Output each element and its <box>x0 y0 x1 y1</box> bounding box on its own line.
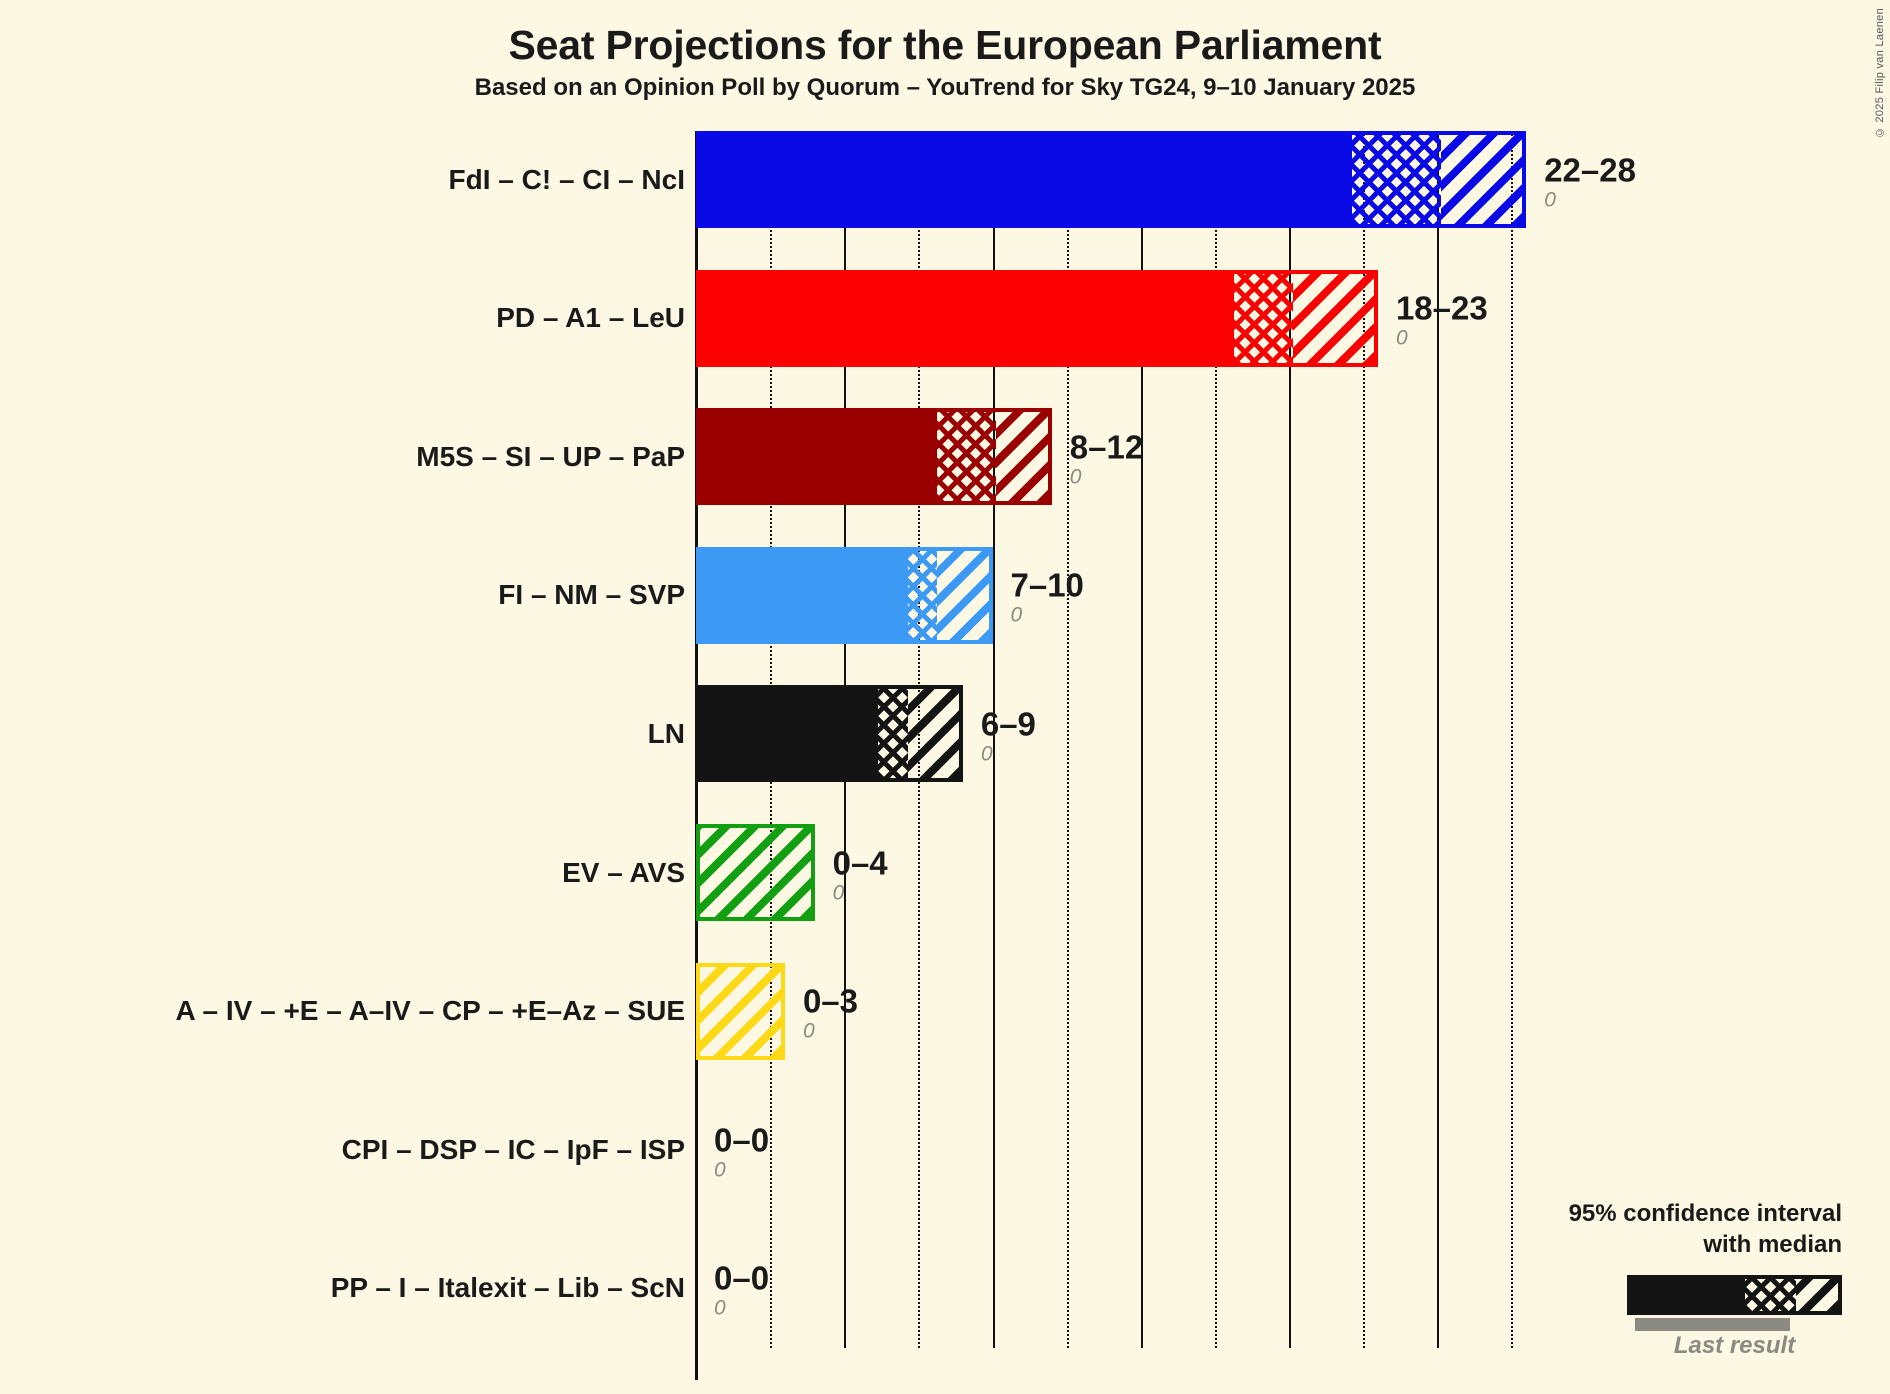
legend-sample-bar <box>1627 1275 1842 1315</box>
bar[interactable] <box>696 131 1526 228</box>
bar-last-result: 0 <box>1070 463 1143 491</box>
bar-segment-upper-bound <box>1293 274 1374 363</box>
bar-segment-median <box>1234 274 1293 363</box>
bar-value-group: 0–00 <box>714 1262 769 1323</box>
legend-caption: 95% confidence interval with median <box>1422 1199 1842 1260</box>
bar-last-result: 0 <box>1011 602 1084 630</box>
legend-segment-solid <box>1631 1279 1745 1311</box>
legend-last-result-label: Last result <box>1627 1332 1842 1360</box>
bar-label: CPI – DSP – IC – IpF – ISP <box>342 1134 685 1166</box>
bar-segment-median <box>878 689 908 778</box>
bar-label: FI – NM – SVP <box>498 579 685 611</box>
bar[interactable] <box>696 408 1052 505</box>
bar-label: PD – A1 – LeU <box>496 302 685 334</box>
legend-segment-diagonal <box>1796 1279 1838 1311</box>
bar-segment-upper-bound <box>908 689 959 778</box>
bar-last-result: 0 <box>1544 186 1636 214</box>
bar-value-range: 22–28 <box>1544 153 1636 186</box>
bar-last-result: 0 <box>714 1295 769 1323</box>
bar-value-group: 0–40 <box>833 846 888 907</box>
bar-segment-upper-bound <box>700 967 781 1056</box>
bar[interactable] <box>696 270 1378 367</box>
bar[interactable] <box>696 547 993 644</box>
legend-line-2: with median <box>1422 1230 1842 1261</box>
bar-value-group: 8–120 <box>1070 430 1143 491</box>
bar-label: EV – AVS <box>562 857 685 889</box>
bar-value-range: 0–3 <box>803 984 858 1017</box>
bar-segment-median <box>908 551 938 640</box>
bar-value-range: 0–0 <box>714 1123 769 1156</box>
bar-segment-upper-bound <box>700 828 811 917</box>
bar-segment-lower-bound <box>700 689 878 778</box>
bar-value-group: 22–280 <box>1544 153 1636 214</box>
bar-value-group: 6–90 <box>981 707 1036 768</box>
bar-segment-upper-bound <box>937 551 988 640</box>
bar[interactable] <box>696 824 815 921</box>
bar-label: M5S – SI – UP – PaP <box>416 441 685 473</box>
bar-segment-median <box>937 412 996 501</box>
legend-line-1: 95% confidence interval <box>1422 1199 1842 1230</box>
bar-label: LN <box>648 718 685 750</box>
bar-value-range: 0–0 <box>714 1262 769 1295</box>
gridline-minor <box>1511 131 1513 1348</box>
bar-last-result: 0 <box>1396 324 1488 352</box>
bar-last-result: 0 <box>714 1156 769 1184</box>
bar-segment-lower-bound <box>700 135 1352 224</box>
bar-value-range: 8–12 <box>1070 430 1143 463</box>
bar-segment-upper-bound <box>996 412 1047 501</box>
bar-value-group: 7–100 <box>1011 569 1084 630</box>
bar-value-range: 7–10 <box>1011 569 1084 602</box>
bar-segment-lower-bound <box>700 274 1234 363</box>
legend-segment-crosshatch <box>1745 1279 1796 1311</box>
bar-value-group: 0–00 <box>714 1123 769 1184</box>
bar-segment-median <box>1352 135 1441 224</box>
bar-value-group: 18–230 <box>1396 291 1488 352</box>
plot-area: FdI – C! – CI – NcI22–280PD – A1 – LeU18… <box>0 0 1890 1394</box>
bar-label: A – IV – +E – A–IV – CP – +E–Az – SUE <box>176 995 685 1027</box>
chart-canvas: Seat Projections for the European Parlia… <box>0 0 1890 1394</box>
bar-segment-upper-bound <box>1441 135 1522 224</box>
bar-segment-lower-bound <box>700 551 908 640</box>
bar-last-result: 0 <box>981 740 1036 768</box>
bar-value-range: 18–23 <box>1396 291 1488 324</box>
legend-last-result-bar <box>1635 1318 1790 1331</box>
bar-value-range: 0–4 <box>833 846 888 879</box>
bar[interactable] <box>696 963 785 1060</box>
bar-label: PP – I – Italexit – Lib – ScN <box>331 1272 685 1304</box>
bar-segment-lower-bound <box>700 412 937 501</box>
bar-label: FdI – C! – CI – NcI <box>449 164 686 196</box>
bar-last-result: 0 <box>803 1017 858 1045</box>
bar-value-group: 0–30 <box>803 984 858 1045</box>
bar-value-range: 6–9 <box>981 707 1036 740</box>
bar[interactable] <box>696 685 963 782</box>
bar-last-result: 0 <box>833 879 888 907</box>
